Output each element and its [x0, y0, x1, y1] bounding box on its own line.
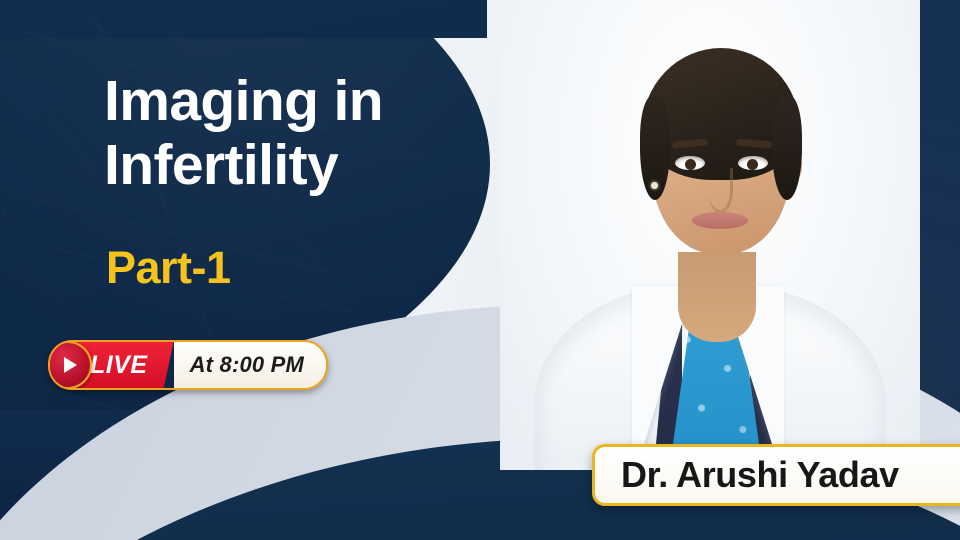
pupil-left — [685, 159, 696, 170]
title-line-2: Infertility — [104, 134, 484, 198]
neck — [678, 252, 756, 342]
speaker-nameplate: Dr. Arushi Yadav — [592, 444, 960, 506]
pupil-right — [747, 159, 758, 170]
title-line-1: Imaging in — [104, 70, 484, 134]
webinar-poster: Imaging in Infertility Part-1 LIVE At 8:… — [0, 0, 960, 540]
speaker-name: Dr. Arushi Yadav — [621, 454, 899, 496]
live-badge[interactable]: LIVE At 8:00 PM — [48, 340, 328, 390]
nose — [708, 168, 733, 213]
poster-subtitle: Part-1 — [106, 242, 231, 294]
lips — [692, 212, 748, 229]
poster-title: Imaging in Infertility — [104, 70, 484, 198]
hair-side-right — [772, 96, 802, 200]
earring — [651, 182, 658, 189]
speaker-photo — [500, 0, 920, 470]
live-time-label: At 8:00 PM — [174, 342, 326, 388]
play-triangle — [64, 357, 77, 373]
